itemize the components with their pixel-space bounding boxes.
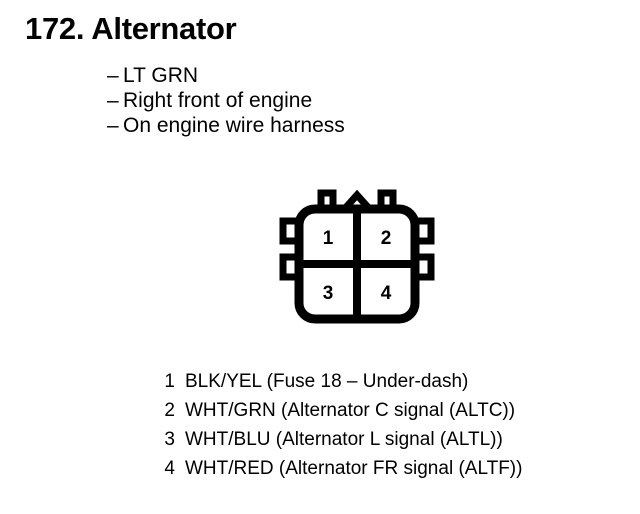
list-item: – On engine wire harness — [107, 113, 345, 138]
legend-row: 2 WHT/GRN (Alternator C signal (ALTC)) — [163, 396, 522, 425]
legend-pin-number: 1 — [163, 367, 175, 396]
connector-diagram: 1 2 3 4 — [277, 185, 437, 325]
legend-row: 1 BLK/YEL (Fuse 18 – Under-dash) — [163, 367, 522, 396]
list-item-label: Right front of engine — [123, 88, 312, 113]
connector-pin-label-2: 2 — [381, 228, 392, 249]
legend-pin-description: WHT/GRN (Alternator C signal (ALTC)) — [185, 396, 515, 425]
legend-pin-number: 2 — [163, 396, 175, 425]
list-item: – Right front of engine — [107, 88, 345, 113]
dash-bullet-icon: – — [107, 113, 123, 138]
connector-pin-label-1: 1 — [323, 228, 334, 249]
dash-bullet-icon: – — [107, 88, 123, 113]
legend-pin-number: 3 — [163, 425, 175, 454]
legend-row: 3 WHT/BLU (Alternator L signal (ALTL)) — [163, 425, 522, 454]
list-item-label: On engine wire harness — [123, 113, 345, 138]
connector-attribute-list: – LT GRN – Right front of engine – On en… — [107, 63, 345, 138]
legend-pin-number: 4 — [163, 454, 175, 483]
list-item-label: LT GRN — [123, 63, 198, 88]
dash-bullet-icon: – — [107, 63, 123, 88]
connector-outline-group — [283, 193, 431, 319]
page-title: 172. Alternator — [25, 13, 236, 46]
connector-pin-label-3: 3 — [323, 283, 334, 304]
legend-pin-description: WHT/RED (Alternator FR signal (ALTF)) — [185, 454, 522, 483]
legend-pin-description: WHT/BLU (Alternator L signal (ALTL)) — [185, 425, 503, 454]
connector-pin-label-4: 4 — [381, 283, 392, 304]
list-item: – LT GRN — [107, 63, 345, 88]
pin-legend: 1 BLK/YEL (Fuse 18 – Under-dash) 2 WHT/G… — [163, 367, 522, 483]
legend-pin-description: BLK/YEL (Fuse 18 – Under-dash) — [185, 367, 468, 396]
legend-row: 4 WHT/RED (Alternator FR signal (ALTF)) — [163, 454, 522, 483]
